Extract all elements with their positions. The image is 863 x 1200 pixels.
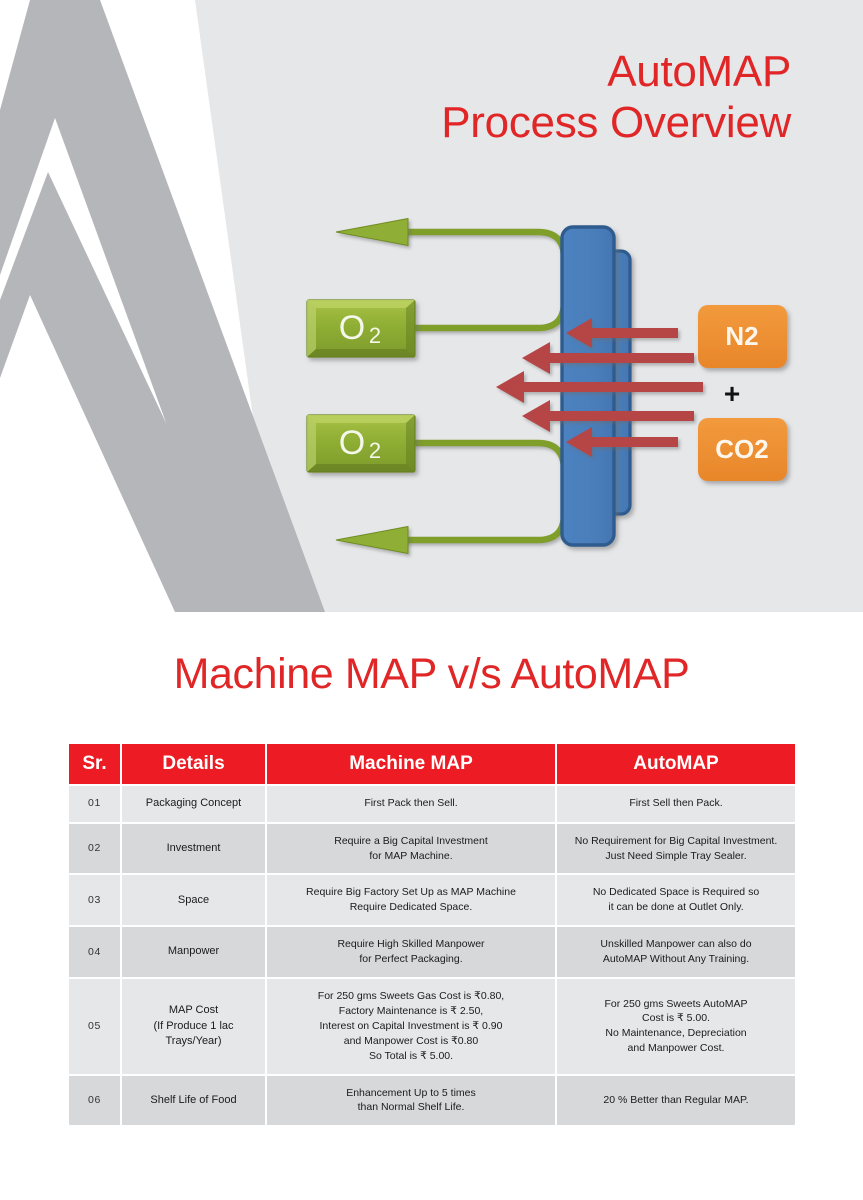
cell-line: So Total is ₹ 5.00.	[274, 1049, 548, 1064]
comparison-table: Sr. Details Machine MAP AutoMAP 01Packag…	[67, 742, 797, 1127]
cell-sr: 06	[69, 1076, 120, 1126]
cell-line: Enhancement Up to 5 times	[274, 1086, 548, 1101]
cell-sr: 01	[69, 786, 120, 822]
cell-automap: No Dedicated Space is Required soit can …	[557, 875, 795, 925]
cell-machine-map: For 250 gms Sweets Gas Cost is ₹0.80,Fac…	[267, 979, 555, 1074]
cell-line: For 250 gms Sweets Gas Cost is ₹0.80,	[274, 989, 548, 1004]
column-header-automap: AutoMAP	[557, 744, 795, 784]
table-row: 06Shelf Life of FoodEnhancement Up to 5 …	[69, 1076, 795, 1126]
cell-machine-map: Require a Big Capital Investmentfor MAP …	[267, 824, 555, 874]
cell-line: and Manpower Cost is ₹0.80	[274, 1034, 548, 1049]
o2-box-top: O 2	[307, 300, 415, 357]
svg-text:O: O	[339, 424, 365, 462]
cell-line: No Dedicated Space is Required so	[564, 885, 788, 900]
cell-line: For 250 gms Sweets AutoMAP	[564, 997, 788, 1012]
cell-machine-map: First Pack then Sell.	[267, 786, 555, 822]
o2-outlet-arrowheads	[336, 219, 408, 554]
cell-details: Packaging Concept	[122, 786, 265, 822]
table-row: 04ManpowerRequire High Skilled Manpowerf…	[69, 927, 795, 977]
section-heading: Machine MAP v/s AutoMAP	[0, 650, 863, 699]
plus-sign: +	[724, 378, 740, 409]
column-header-sr: Sr.	[69, 744, 120, 784]
cell-details: MAP Cost(If Produce 1 lacTrays/Year)	[122, 979, 265, 1074]
cell-machine-map: Require Big Factory Set Up as MAP Machin…	[267, 875, 555, 925]
cell-details: Investment	[122, 824, 265, 874]
page-title: AutoMAP Process Overview	[271, 46, 791, 149]
cell-automap: First Sell then Pack.	[557, 786, 795, 822]
cell-line: Cost is ₹ 5.00.	[564, 1011, 788, 1026]
cell-line: Factory Maintenance is ₹ 2.50,	[274, 1004, 548, 1019]
cell-line: Interest on Capital Investment is ₹ 0.90	[274, 1019, 548, 1034]
cell-line: Require Big Factory Set Up as MAP Machin…	[274, 885, 548, 900]
cell-machine-map: Require High Skilled Manpowerfor Perfect…	[267, 927, 555, 977]
cell-line: No Maintenance, Depreciation	[564, 1026, 788, 1041]
o2-box-bottom: O 2	[307, 415, 415, 472]
table-row: 03SpaceRequire Big Factory Set Up as MAP…	[69, 875, 795, 925]
gas-box-n2: N2	[698, 305, 787, 368]
cell-line: First Pack then Sell.	[274, 796, 548, 811]
cell-machine-map: Enhancement Up to 5 timesthan Normal She…	[267, 1076, 555, 1126]
hero-banner: AutoMAP Process Overview	[0, 0, 863, 612]
svg-text:N2: N2	[725, 321, 758, 351]
cell-line: Unskilled Manpower can also do	[564, 937, 788, 952]
svg-text:CO2: CO2	[715, 434, 768, 464]
cell-line: (If Produce 1 lac	[129, 1019, 258, 1035]
cell-automap: 20 % Better than Regular MAP.	[557, 1076, 795, 1126]
cell-line: it can be done at Outlet Only.	[564, 900, 788, 915]
cell-line: AutoMAP Without Any Training.	[564, 952, 788, 967]
cell-line: Manpower	[129, 944, 258, 960]
cell-line: and Manpower Cost.	[564, 1041, 788, 1056]
cell-line: Just Need Simple Tray Sealer.	[564, 849, 788, 864]
hero-title-line-1: AutoMAP	[607, 47, 791, 96]
hero-title-line-2: Process Overview	[271, 97, 791, 148]
cell-line: MAP Cost	[129, 1003, 258, 1019]
cell-line: Space	[129, 893, 258, 909]
cell-line: for MAP Machine.	[274, 849, 548, 864]
cell-line: Packaging Concept	[129, 796, 258, 812]
column-header-details: Details	[122, 744, 265, 784]
cell-line: First Sell then Pack.	[564, 796, 788, 811]
cell-automap: No Requirement for Big Capital Investmen…	[557, 824, 795, 874]
cell-line: Require a Big Capital Investment	[274, 834, 548, 849]
cell-line: Trays/Year)	[129, 1034, 258, 1050]
cell-automap: For 250 gms Sweets AutoMAPCost is ₹ 5.00…	[557, 979, 795, 1074]
cell-line: Shelf Life of Food	[129, 1093, 258, 1109]
cell-line: Require Dedicated Space.	[274, 900, 548, 915]
table-row: 02InvestmentRequire a Big Capital Invest…	[69, 824, 795, 874]
cell-details: Manpower	[122, 927, 265, 977]
cell-details: Space	[122, 875, 265, 925]
cell-line: Investment	[129, 841, 258, 857]
svg-text:O: O	[339, 309, 365, 347]
cell-line: Require High Skilled Manpower	[274, 937, 548, 952]
table-row: 01Packaging ConceptFirst Pack then Sell.…	[69, 786, 795, 822]
column-header-machine-map: Machine MAP	[267, 744, 555, 784]
cell-line: than Normal Shelf Life.	[274, 1100, 548, 1115]
cell-line: No Requirement for Big Capital Investmen…	[564, 834, 788, 849]
cell-sr: 05	[69, 979, 120, 1074]
cell-line: 20 % Better than Regular MAP.	[564, 1093, 788, 1108]
cell-sr: 04	[69, 927, 120, 977]
cell-automap: Unskilled Manpower can also doAutoMAP Wi…	[557, 927, 795, 977]
cell-details: Shelf Life of Food	[122, 1076, 265, 1126]
svg-text:2: 2	[369, 323, 381, 348]
gas-box-co2: CO2	[698, 418, 787, 481]
cell-sr: 02	[69, 824, 120, 874]
table-header-row: Sr. Details Machine MAP AutoMAP	[69, 744, 795, 784]
table-row: 05MAP Cost(If Produce 1 lacTrays/Year)Fo…	[69, 979, 795, 1074]
cell-line: for Perfect Packaging.	[274, 952, 548, 967]
cell-sr: 03	[69, 875, 120, 925]
automap-process-diagram: O 2 O 2 N2 + CO2	[300, 218, 820, 568]
svg-text:2: 2	[369, 438, 381, 463]
